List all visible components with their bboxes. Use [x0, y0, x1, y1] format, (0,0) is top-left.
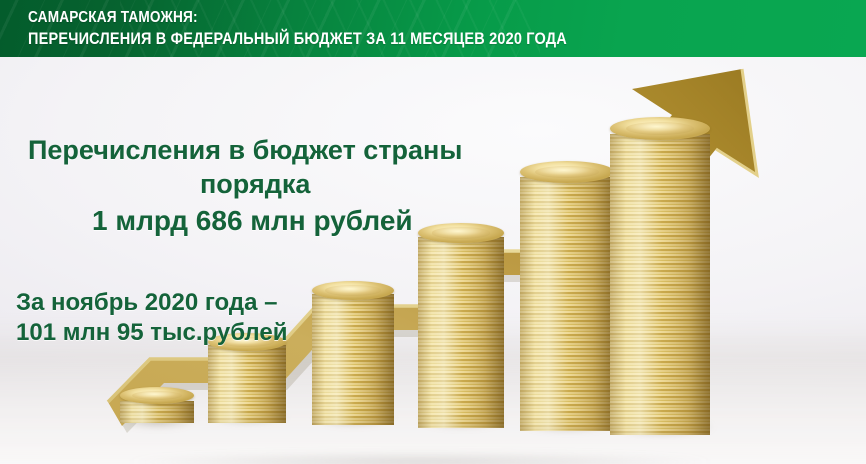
coin-stack-sheen [610, 134, 710, 435]
coin-stack [418, 223, 504, 428]
header-title-line-2: ПЕРЕЧИСЛЕНИЯ В ФЕДЕРАЛЬНЫЙ БЮДЖЕТ ЗА 11 … [28, 30, 567, 49]
coin-top-relief [432, 227, 491, 238]
header-title-line-1: САМАРСКАЯ ТАМОЖНЯ: [28, 9, 198, 27]
coin-stack-body [312, 294, 394, 425]
coin-stack [520, 161, 614, 431]
headline-line-2: порядка [200, 169, 310, 200]
coin-top-face [520, 161, 614, 183]
coin-stack [312, 281, 394, 425]
coin-stack [610, 117, 710, 435]
illustration-scene: Перечисления в бюджет страны порядка 1 м… [0, 57, 866, 464]
coin-stack-sheen [208, 345, 286, 423]
coin-top-relief [626, 122, 694, 135]
coin-stack-body [208, 345, 286, 423]
coin-stack-body [418, 237, 504, 428]
coin-stack-body [520, 177, 614, 431]
headline-line-3: 1 млрд 686 млн рублей [92, 205, 413, 237]
coin-stack [208, 333, 286, 423]
coin-stack-sheen [120, 401, 194, 423]
subline-line-1: За ноябрь 2020 года – [16, 289, 277, 316]
coin-top-face [312, 281, 394, 300]
coin-stack-body [610, 134, 710, 435]
header-banner: САМАРСКАЯ ТАМОЖНЯ: ПЕРЕЧИСЛЕНИЯ В ФЕДЕРА… [0, 0, 866, 57]
coin-top-face [418, 223, 504, 243]
coin-stack-sheen [418, 237, 504, 428]
coin-top-face [120, 387, 194, 404]
headline-line-1: Перечисления в бюджет страны [28, 135, 462, 166]
coin-stack-sheen [520, 177, 614, 431]
coin-stack-sheen [312, 294, 394, 425]
coin-stack-body [120, 401, 194, 423]
coin-top-relief [535, 166, 599, 178]
coin-stack [120, 387, 194, 423]
subline-line-2: 101 млн 95 тыс.рублей [16, 319, 287, 346]
poster-canvas: САМАРСКАЯ ТАМОЖНЯ: ПЕРЕЧИСЛЕНИЯ В ФЕДЕРА… [0, 0, 866, 464]
coin-top-face [610, 117, 710, 140]
coin-top-relief [132, 391, 182, 401]
coin-top-relief [325, 285, 381, 296]
